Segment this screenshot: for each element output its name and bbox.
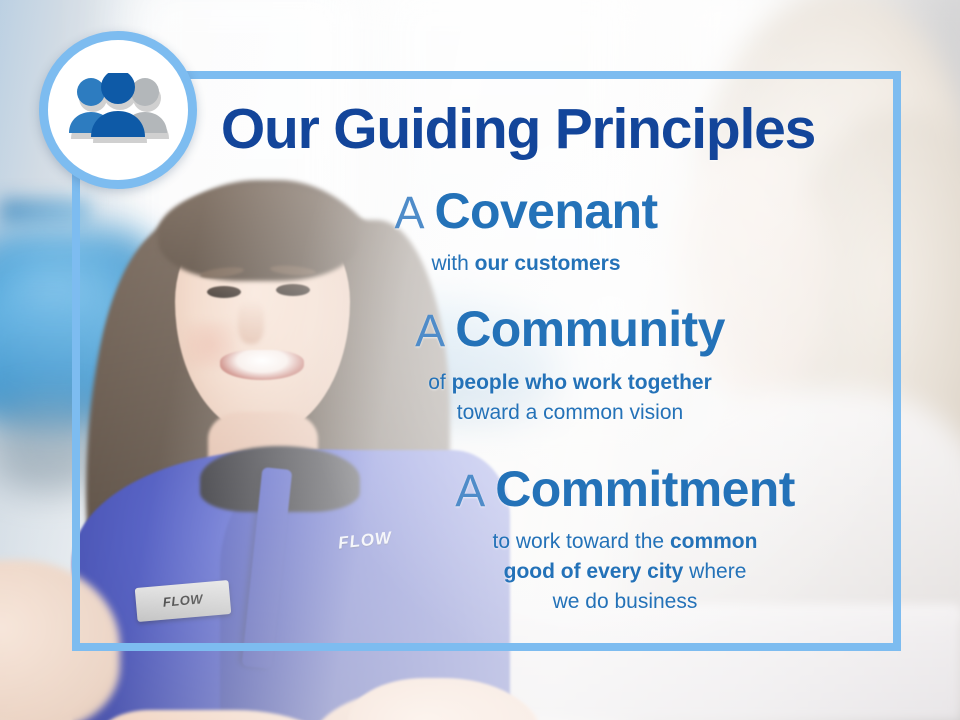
principle-article: A [394,187,434,238]
banner-canvas: FLOW FLOW [0,0,960,720]
principle-heading: A Community [180,300,960,358]
principle-article: A [455,465,495,516]
principle-heading: A Covenant [92,182,960,240]
principle-block-covenant: A Covenant with our customers [0,182,960,279]
text-layer: Our Guiding Principles A Covenant with o… [0,0,960,720]
page-title: Our Guiding Principles [0,96,960,162]
principle-subtext: of people who work togethertoward a comm… [180,368,960,428]
principle-word: Covenant [435,183,658,239]
principle-word: Community [455,301,725,357]
principle-heading: A Commitment [290,460,960,518]
principle-block-community: A Community of people who work togethert… [0,300,960,428]
principle-subtext: to work toward the commongood of every c… [290,527,960,617]
principle-word: Commitment [495,461,795,517]
principle-block-commitment: A Commitment to work toward the commongo… [0,460,960,617]
principle-article: A [415,305,455,356]
principle-subtext: with our customers [92,249,960,279]
